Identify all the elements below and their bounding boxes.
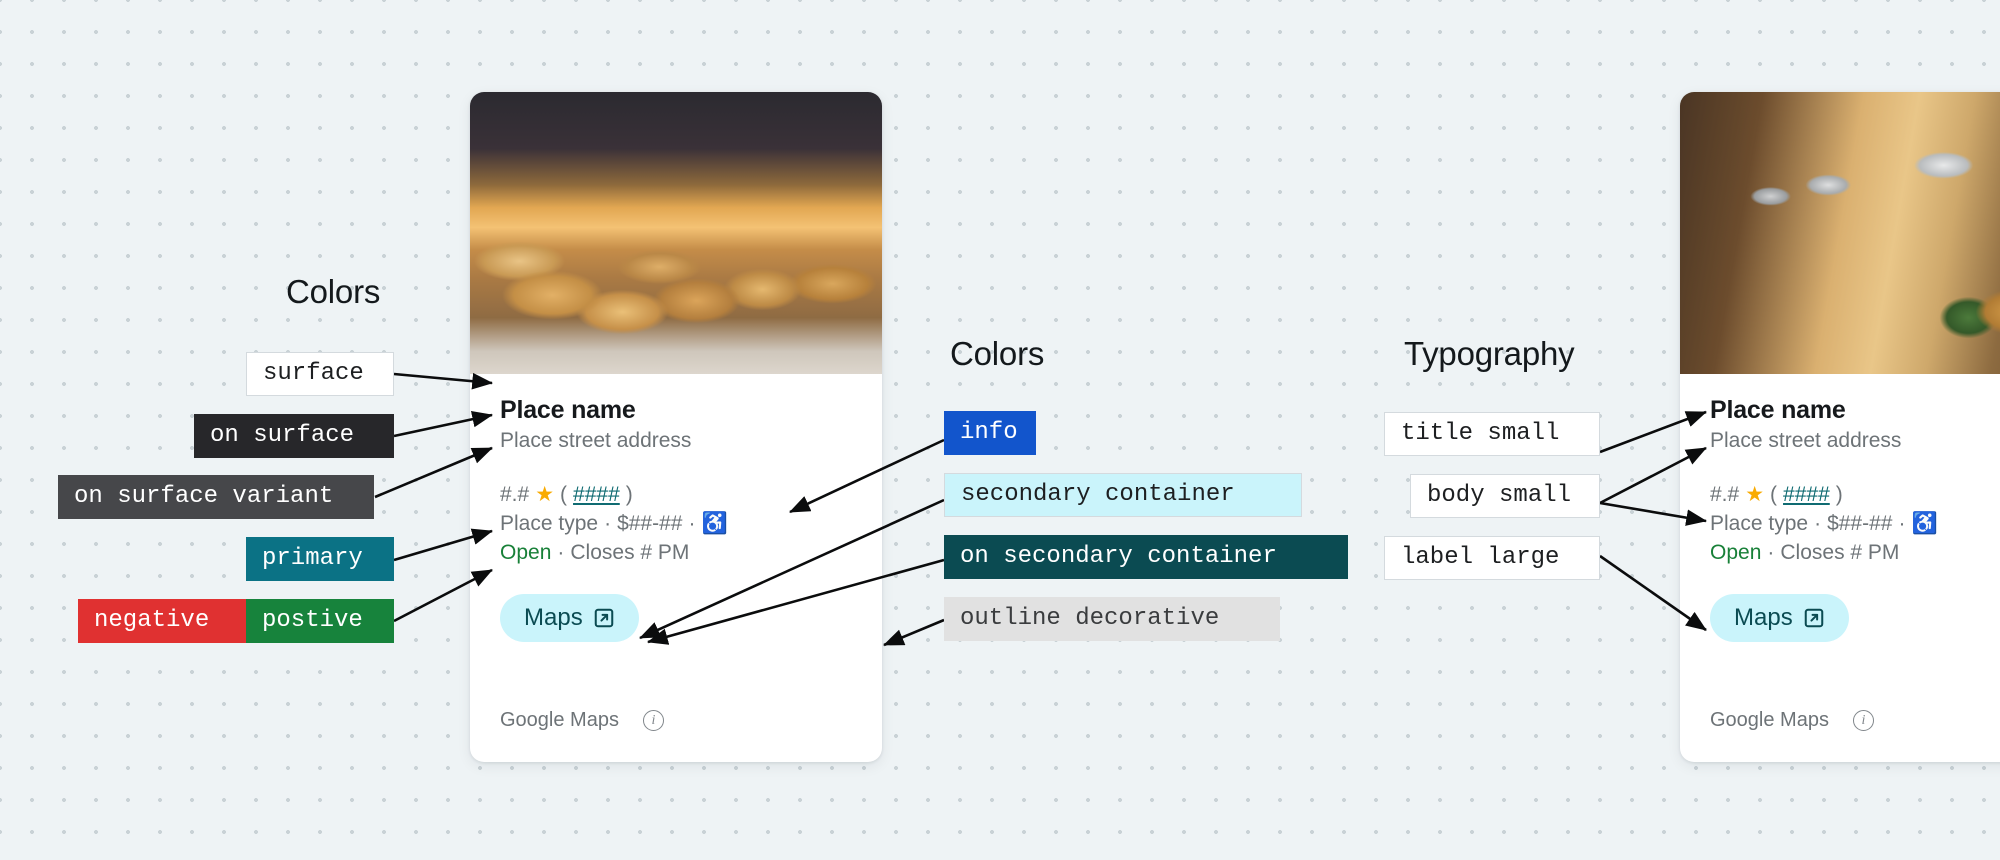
color-chip-surface[interactable]: surface <box>246 352 394 396</box>
star-icon: ★ <box>535 481 554 510</box>
separator-dot: · <box>688 510 695 539</box>
color-chip-on-secondary-container[interactable]: on secondary container <box>944 535 1348 579</box>
maps-button[interactable]: Maps <box>500 594 639 642</box>
typography-chip-label: body small <box>1427 484 1571 508</box>
place-card-body: Place name Place street address #.# ★ (#… <box>470 374 882 642</box>
place-meta-block: #.# ★ (####) Place type · $##-## · ♿ Ope… <box>500 481 852 568</box>
color-chip-label: postive <box>262 609 363 633</box>
color-chip-label: primary <box>262 547 363 571</box>
external-link-icon <box>1803 607 1825 629</box>
review-count-link[interactable]: #### <box>1783 481 1830 510</box>
color-chip-label: on secondary container <box>960 545 1277 569</box>
color-chip-label: on surface <box>210 424 354 448</box>
maps-button[interactable]: Maps <box>1710 594 1849 642</box>
place-name: Place name <box>500 396 852 425</box>
closing-time: Closes # PM <box>570 539 689 568</box>
place-photo-bakery <box>470 92 882 374</box>
price-range: $##-## <box>1827 510 1892 539</box>
rating-row: #.# ★ (####) <box>1710 481 2000 510</box>
color-chip-on-surface-variant[interactable]: on surface variant <box>58 475 374 519</box>
open-status: Open <box>1710 539 1761 568</box>
review-paren-close: ) <box>1836 481 1843 510</box>
color-chip-label: secondary container <box>961 483 1235 507</box>
photo-art <box>470 92 882 374</box>
typography-chip-label: label large <box>1401 546 1559 570</box>
card-footer: Google Maps i <box>500 709 664 732</box>
photo-art <box>1680 92 2000 374</box>
accessibility-icon: ♿ <box>1911 510 1937 539</box>
info-circle-icon[interactable]: i <box>643 710 664 731</box>
open-status: Open <box>500 539 551 568</box>
hours-row: Open · Closes # PM <box>500 539 852 568</box>
place-card-left[interactable]: Place name Place street address #.# ★ (#… <box>470 92 882 762</box>
place-type: Place type <box>1710 510 1808 539</box>
separator-dot: · <box>1898 510 1905 539</box>
typography-chip-label: title small <box>1401 422 1559 446</box>
rating-row: #.# ★ (####) <box>500 481 852 510</box>
place-card-body: Place name Place street address #.# ★ (#… <box>1680 374 2000 642</box>
card-footer: Google Maps i <box>1710 709 1874 732</box>
color-chip-outline-decorative[interactable]: outline decorative <box>944 597 1280 641</box>
footer-attribution: Google Maps <box>500 709 619 732</box>
separator-dot: · <box>557 539 564 568</box>
closing-time: Closes # PM <box>1780 539 1899 568</box>
color-chip-primary[interactable]: primary <box>246 537 394 581</box>
place-type: Place type <box>500 510 598 539</box>
price-range: $##-## <box>617 510 682 539</box>
color-chip-label: surface <box>263 362 364 386</box>
accessibility-icon: ♿ <box>701 510 727 539</box>
color-chip-on-surface[interactable]: on surface <box>194 414 394 458</box>
review-count-link[interactable]: #### <box>573 481 620 510</box>
color-chip-secondary-container[interactable]: secondary container <box>944 473 1302 517</box>
type-price-row: Place type · $##-## · ♿ <box>1710 510 2000 539</box>
section-heading-typography: Typography <box>1404 335 1574 373</box>
star-icon: ★ <box>1745 481 1764 510</box>
maps-button-label: Maps <box>1734 604 1793 632</box>
section-heading-colors-left: Colors <box>286 273 380 311</box>
color-chip-info[interactable]: info <box>944 411 1036 455</box>
color-chip-label: info <box>960 421 1018 445</box>
color-chip-label: on surface variant <box>74 485 333 509</box>
separator-dot: · <box>604 510 611 539</box>
review-paren-open: ( <box>560 481 567 510</box>
place-name: Place name <box>1710 396 2000 425</box>
place-card-right[interactable]: Place name Place street address #.# ★ (#… <box>1680 92 2000 762</box>
separator-dot: · <box>1814 510 1821 539</box>
place-photo-cafe <box>1680 92 2000 374</box>
separator-dot: · <box>1767 539 1774 568</box>
connector-outline-decorative <box>884 620 944 645</box>
place-meta-block: #.# ★ (####) Place type · $##-## · ♿ Ope… <box>1710 481 2000 568</box>
section-heading-colors-mid: Colors <box>950 335 1044 373</box>
info-circle-icon[interactable]: i <box>1853 710 1874 731</box>
footer-attribution: Google Maps <box>1710 709 1829 732</box>
external-link-icon <box>593 607 615 629</box>
rating-value: #.# <box>1710 481 1739 510</box>
canvas-stage: Colors Colors Typography surface on surf… <box>0 0 2000 860</box>
rating-value: #.# <box>500 481 529 510</box>
maps-button-label: Maps <box>524 604 583 632</box>
typography-chip-label-large[interactable]: label large <box>1384 536 1600 580</box>
color-chip-negative[interactable]: negative <box>78 599 246 643</box>
place-address: Place street address <box>1710 429 2000 453</box>
typography-chip-title-small[interactable]: title small <box>1384 412 1600 456</box>
hours-row: Open · Closes # PM <box>1710 539 2000 568</box>
color-chip-label: outline decorative <box>960 607 1219 631</box>
place-address: Place street address <box>500 429 852 453</box>
typography-chip-body-small[interactable]: body small <box>1410 474 1600 518</box>
review-paren-close: ) <box>626 481 633 510</box>
color-chip-positive[interactable]: postive <box>246 599 394 643</box>
review-paren-open: ( <box>1770 481 1777 510</box>
color-chip-label: negative <box>94 609 209 633</box>
type-price-row: Place type · $##-## · ♿ <box>500 510 852 539</box>
